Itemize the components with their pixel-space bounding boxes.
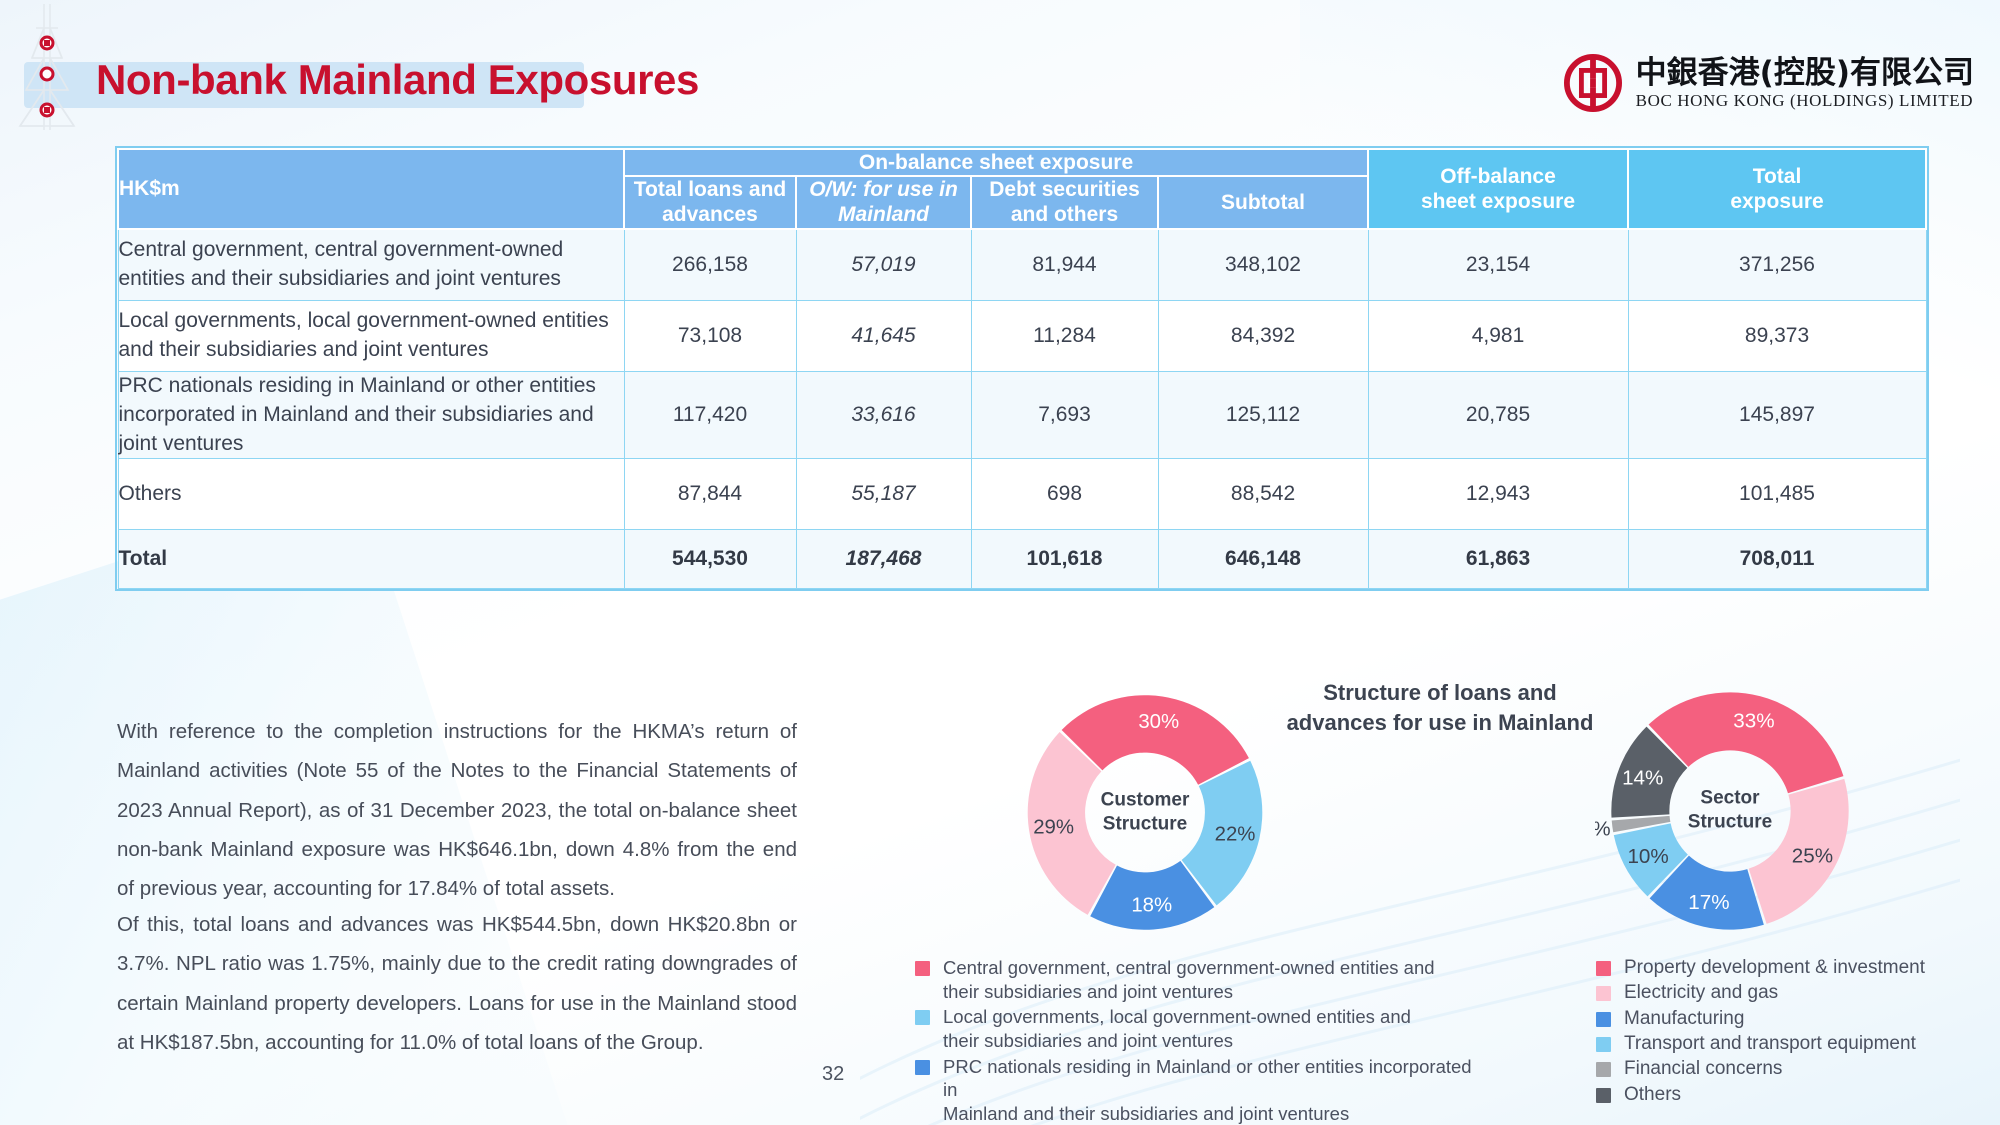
customer-structure-legend: Central government, central government-o…	[915, 956, 1475, 1125]
company-logo: 中銀香港(控股)有限公司 BOC HONG KONG (HOLDINGS) LI…	[1564, 54, 1974, 112]
legend-label: Property development & investment	[1624, 956, 1925, 980]
table-col-off-balance: Off-balance sheet exposure	[1368, 149, 1628, 229]
narrative-paragraph-2: Of this, total loans and advances was HK…	[117, 905, 797, 1062]
legend-label-line-2: their subsidiaries and joint ventures	[943, 981, 1233, 1002]
legend-item: Transport and transport equipment	[1596, 1032, 1996, 1056]
legend-label-line-2: Mainland and their subsidiaries and join…	[943, 1103, 1349, 1124]
legend-swatch-icon	[1596, 1037, 1611, 1052]
table-col-total-exposure: Total exposure	[1628, 149, 1926, 229]
table-row: Local governments, local government-owne…	[118, 300, 1926, 371]
cell-total-exposure: 145,897	[1628, 371, 1926, 459]
total-exposure-line-2: exposure	[1730, 190, 1823, 213]
charts-heading: Structure of loans and advances for use …	[1255, 678, 1625, 737]
legend-swatch-icon	[915, 961, 930, 976]
cell-debt-securities: 698	[971, 459, 1158, 530]
table-col-ow-mainland: O/W: for use in Mainland	[796, 176, 971, 228]
legend-label-line-1: Central government, central government-o…	[943, 957, 1435, 978]
legend-label: PRC nationals residing in Mainland or ot…	[943, 1055, 1475, 1125]
logo-english-name: BOC HONG KONG (HOLDINGS) LIMITED	[1636, 92, 1974, 110]
table-col-subtotal: Subtotal	[1158, 176, 1368, 228]
legend-swatch-icon	[915, 1010, 930, 1025]
cell-total-loans: 73,108	[624, 300, 796, 371]
cell-debt-securities: 7,693	[971, 371, 1158, 459]
total-cell-debt-securities: 101,618	[971, 530, 1158, 589]
legend-label: Others	[1624, 1083, 1681, 1107]
donut-slice-value-label: 2%	[1595, 818, 1611, 841]
cell-subtotal: 125,112	[1158, 371, 1368, 459]
row-label: Central government, central government-o…	[118, 229, 624, 301]
legend-item: PRC nationals residing in Mainland or ot…	[915, 1055, 1475, 1125]
legend-label-line-1: PRC nationals residing in Mainland or ot…	[943, 1056, 1472, 1101]
legend-label: Electricity and gas	[1624, 981, 1778, 1005]
sector-donut-svg: 33%25%17%10%2%14%	[1595, 682, 1865, 940]
table-group-header-on-balance: On-balance sheet exposure	[624, 149, 1368, 176]
cell-subtotal: 88,542	[1158, 459, 1368, 530]
total-cell-ow-mainland: 187,468	[796, 530, 971, 589]
total-cell-off-balance: 61,863	[1368, 530, 1628, 589]
total-loans-line-2: advances	[662, 203, 758, 226]
legend-label: Transport and transport equipment	[1624, 1032, 1916, 1056]
non-bank-mainland-exposure-table: HK$m On-balance sheet exposure Off-balan…	[117, 148, 1927, 589]
legend-label: Local governments, local government-owne…	[943, 1005, 1411, 1052]
legend-label-line-2: their subsidiaries and joint ventures	[943, 1030, 1233, 1051]
debt-securities-line-1: Debt securities	[989, 178, 1140, 201]
cell-off-balance: 20,785	[1368, 371, 1628, 459]
cell-ow-mainland: 57,019	[796, 229, 971, 301]
legend-swatch-icon	[915, 1060, 930, 1075]
table-total-row: Total 544,530 187,468 101,618 646,148 61…	[118, 530, 1926, 589]
cell-debt-securities: 11,284	[971, 300, 1158, 371]
sector-structure-donut-chart: 33%25%17%10%2%14% Sector Structure	[1595, 682, 1865, 940]
table-row: Central government, central government-o…	[118, 229, 1926, 301]
legend-item: Financial concerns	[1596, 1057, 1996, 1081]
total-row-label: Total	[118, 530, 624, 589]
legend-item: Others	[1596, 1083, 1996, 1107]
total-cell-subtotal: 646,148	[1158, 530, 1368, 589]
total-loans-line-1: Total loans and	[634, 178, 786, 201]
cell-ow-mainland: 55,187	[796, 459, 971, 530]
table-col-debt-securities: Debt securities and others	[971, 176, 1158, 228]
cell-off-balance: 4,981	[1368, 300, 1628, 371]
donut-slice-value-label: 29%	[1033, 817, 1074, 839]
legend-swatch-icon	[1596, 1012, 1611, 1027]
cell-off-balance: 12,943	[1368, 459, 1628, 530]
legend-swatch-icon	[1596, 961, 1611, 976]
legend-swatch-icon	[1596, 1062, 1611, 1077]
cell-off-balance: 23,154	[1368, 229, 1628, 301]
cell-total-loans: 87,844	[624, 459, 796, 530]
legend-swatch-icon	[1596, 1088, 1611, 1103]
cell-ow-mainland: 33,616	[796, 371, 971, 459]
cell-subtotal: 348,102	[1158, 229, 1368, 301]
logo-chinese-name: 中銀香港(控股)有限公司	[1636, 57, 1974, 89]
cell-ow-mainland: 41,645	[796, 300, 971, 371]
row-label: Others	[118, 459, 624, 530]
legend-label-line-1: Local governments, local government-owne…	[943, 1006, 1411, 1027]
table-col-total-loans: Total loans and advances	[624, 176, 796, 228]
ow-mainland-line-2: Mainland	[838, 203, 929, 226]
table-row: Others 87,844 55,187 698 88,542 12,943 1…	[118, 459, 1926, 530]
table-unit-label: HK$m	[118, 149, 624, 229]
customer-structure-donut-chart: 30%22%18%29% Customer Structure	[1010, 685, 1280, 940]
cell-total-loans: 266,158	[624, 229, 796, 301]
donut-slice-value-label: 17%	[1688, 891, 1729, 914]
charts-heading-line-2: advances for use in Mainland	[1287, 710, 1594, 735]
legend-item: Local governments, local government-owne…	[915, 1005, 1475, 1052]
legend-item: Manufacturing	[1596, 1007, 1996, 1031]
slide-canvas: Non-bank Mainland Exposures 中銀香港(控股)有限公司…	[0, 0, 2000, 1125]
off-balance-line-1: Off-balance	[1440, 165, 1556, 188]
total-cell-total-loans: 544,530	[624, 530, 796, 589]
sector-structure-legend: Property development & investment Electr…	[1596, 956, 1996, 1108]
customer-donut-svg: 30%22%18%29%	[1010, 685, 1280, 940]
table-row: PRC nationals residing in Mainland or ot…	[118, 371, 1926, 459]
total-exposure-line-1: Total	[1753, 165, 1802, 188]
donut-slice-value-label: 14%	[1622, 767, 1663, 790]
page-title: Non-bank Mainland Exposures	[96, 56, 699, 104]
donut-slice-value-label: 18%	[1131, 895, 1172, 917]
cell-debt-securities: 81,944	[971, 229, 1158, 301]
legend-swatch-icon	[1596, 986, 1611, 1001]
row-label: Local governments, local government-owne…	[118, 300, 624, 371]
ow-mainland-line-1: O/W: for use in	[809, 178, 958, 201]
donut-slice-value-label: 25%	[1792, 844, 1833, 867]
boc-logo-mark-icon	[1564, 54, 1622, 112]
legend-item: Central government, central government-o…	[915, 956, 1475, 1003]
cell-total-exposure: 101,485	[1628, 459, 1926, 530]
cell-total-loans: 117,420	[624, 371, 796, 459]
donut-slice-value-label: 22%	[1215, 823, 1256, 845]
cell-total-exposure: 89,373	[1628, 300, 1926, 371]
total-cell-total-exposure: 708,011	[1628, 530, 1926, 589]
narrative-paragraph-1: With reference to the completion instruc…	[117, 712, 797, 909]
legend-label: Manufacturing	[1624, 1007, 1744, 1031]
table-header-row-1: HK$m On-balance sheet exposure Off-balan…	[118, 149, 1926, 176]
debt-securities-line-2: and others	[1011, 203, 1118, 226]
cell-subtotal: 84,392	[1158, 300, 1368, 371]
legend-label: Central government, central government-o…	[943, 956, 1435, 1003]
off-balance-line-2: sheet exposure	[1421, 190, 1575, 213]
donut-slice-value-label: 30%	[1138, 711, 1179, 733]
donut-slice-value-label: 33%	[1733, 710, 1774, 733]
donut-slice-value-label: 10%	[1627, 845, 1668, 868]
cell-total-exposure: 371,256	[1628, 229, 1926, 301]
row-label: PRC nationals residing in Mainland or ot…	[118, 371, 624, 459]
legend-item: Electricity and gas	[1596, 981, 1996, 1005]
legend-item: Property development & investment	[1596, 956, 1996, 980]
legend-label: Financial concerns	[1624, 1057, 1782, 1081]
page-number: 32	[822, 1063, 844, 1086]
charts-heading-line-1: Structure of loans and	[1323, 680, 1556, 705]
